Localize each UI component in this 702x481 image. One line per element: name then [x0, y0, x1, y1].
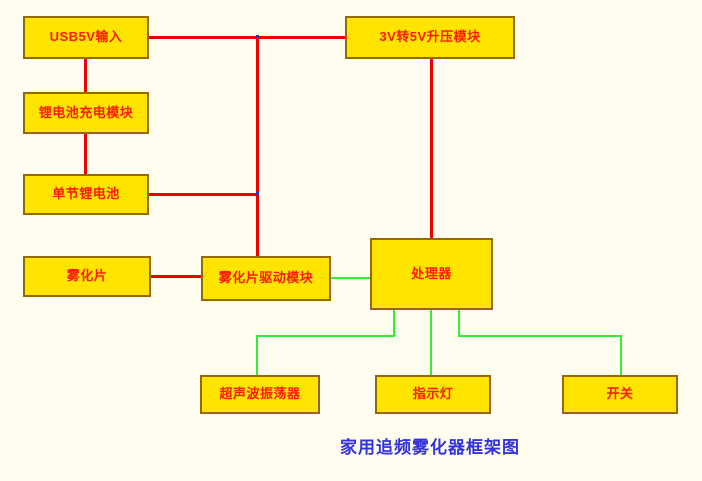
wire-oscillator-drop — [256, 335, 258, 376]
wire-atomizer-to-driver — [150, 275, 202, 278]
wire-proc-h-oscillator — [256, 335, 395, 337]
node-indicator[interactable]: 指示灯 — [375, 375, 491, 414]
diagram-canvas: USB5V输入3V转5V升压模块锂电池充电模块单节锂电池雾化片雾化片驱动模块处理… — [0, 0, 702, 481]
node-charger[interactable]: 锂电池充电模块 — [23, 92, 149, 134]
node-oscillator[interactable]: 超声波振荡器 — [200, 375, 320, 414]
node-driver[interactable]: 雾化片驱动模块 — [201, 256, 331, 301]
wire-proc-down-oscillator — [393, 310, 395, 336]
node-switch[interactable]: 开关 — [562, 375, 678, 414]
junction-usb-boost — [256, 35, 259, 38]
wire-boost-to-processor — [430, 58, 433, 239]
node-boost[interactable]: 3V转5V升压模块 — [345, 16, 515, 59]
wire-driver-to-processor — [330, 277, 371, 279]
wire-power-bus-vertical — [256, 36, 259, 257]
node-atomizer[interactable]: 雾化片 — [23, 256, 151, 297]
wire-switch-drop — [620, 335, 622, 376]
junction-battery-bus — [256, 192, 259, 195]
node-usb5v[interactable]: USB5V输入 — [23, 16, 149, 59]
wire-proc-h-switch — [458, 335, 622, 337]
diagram-title: 家用追频雾化器框架图 — [340, 433, 520, 458]
wire-bus-to-boost — [257, 36, 346, 39]
wire-usb-to-charger — [84, 58, 87, 93]
wire-usb-to-bus — [149, 36, 258, 39]
wire-charger-to-battery — [84, 133, 87, 175]
wire-proc-down-switch — [458, 310, 460, 336]
wire-proc-to-indicator — [430, 310, 432, 376]
node-battery[interactable]: 单节锂电池 — [23, 174, 149, 215]
node-processor[interactable]: 处理器 — [370, 238, 493, 310]
wire-battery-to-bus — [149, 193, 259, 196]
